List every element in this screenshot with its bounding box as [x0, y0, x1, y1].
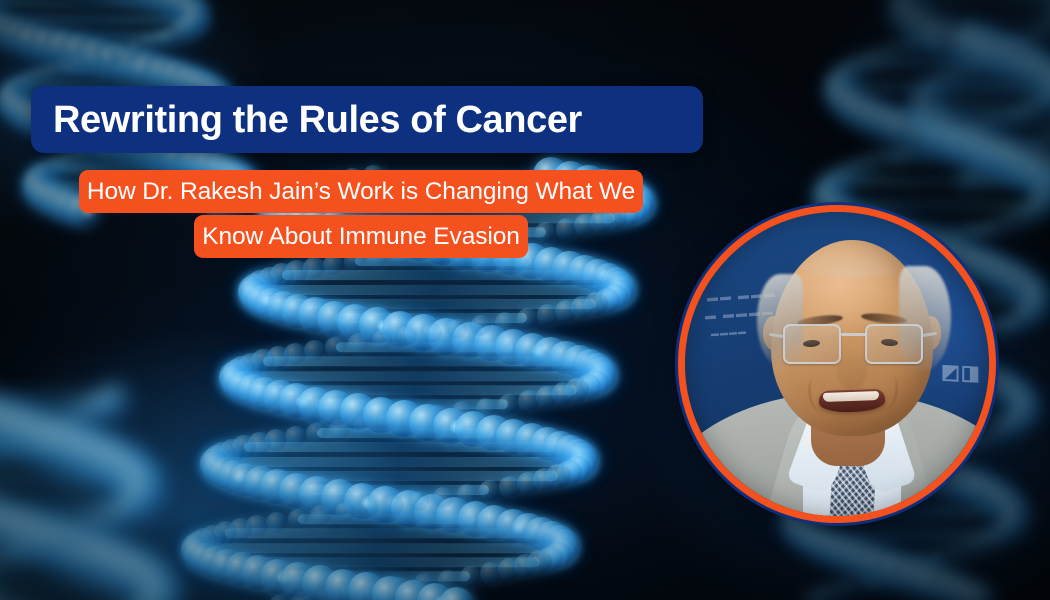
portrait-avatar: ▬▬ ▬▬▬ ▬ ▬▬▬▬ ▬▬▬▬ ◩◨ [678, 205, 996, 523]
dna-helix-top-right [880, 0, 1050, 180]
title-badge: Rewriting the Rules of Cancer [31, 86, 703, 153]
banner-canvas: Rewriting the Rules of Cancer How Dr. Ra… [0, 0, 1050, 600]
chin [821, 416, 883, 436]
subtitle-line-1: How Dr. Rakesh Jain’s Work is Changing W… [87, 178, 635, 205]
hair-top [789, 242, 917, 278]
portrait-photo: ▬▬ ▬▬▬ ▬ ▬▬▬▬ ▬▬▬▬ ◩◨ [685, 212, 989, 516]
eyeglass-lens-right [865, 324, 923, 364]
eyeglass-lens-left [783, 324, 841, 364]
subtitle-block: How Dr. Rakesh Jain’s Work is Changing W… [31, 171, 691, 261]
subtitle-line-2: Know About Immune Evasion [202, 223, 520, 250]
eyeglass-bridge [841, 333, 867, 336]
page-title: Rewriting the Rules of Cancer [53, 101, 582, 139]
nose [837, 348, 867, 390]
dna-helix-bottom-left [0, 400, 220, 600]
backdrop-logo-mark: ◩◨ [941, 359, 981, 386]
backdrop-mark-3: ▬▬▬▬ [711, 327, 747, 339]
